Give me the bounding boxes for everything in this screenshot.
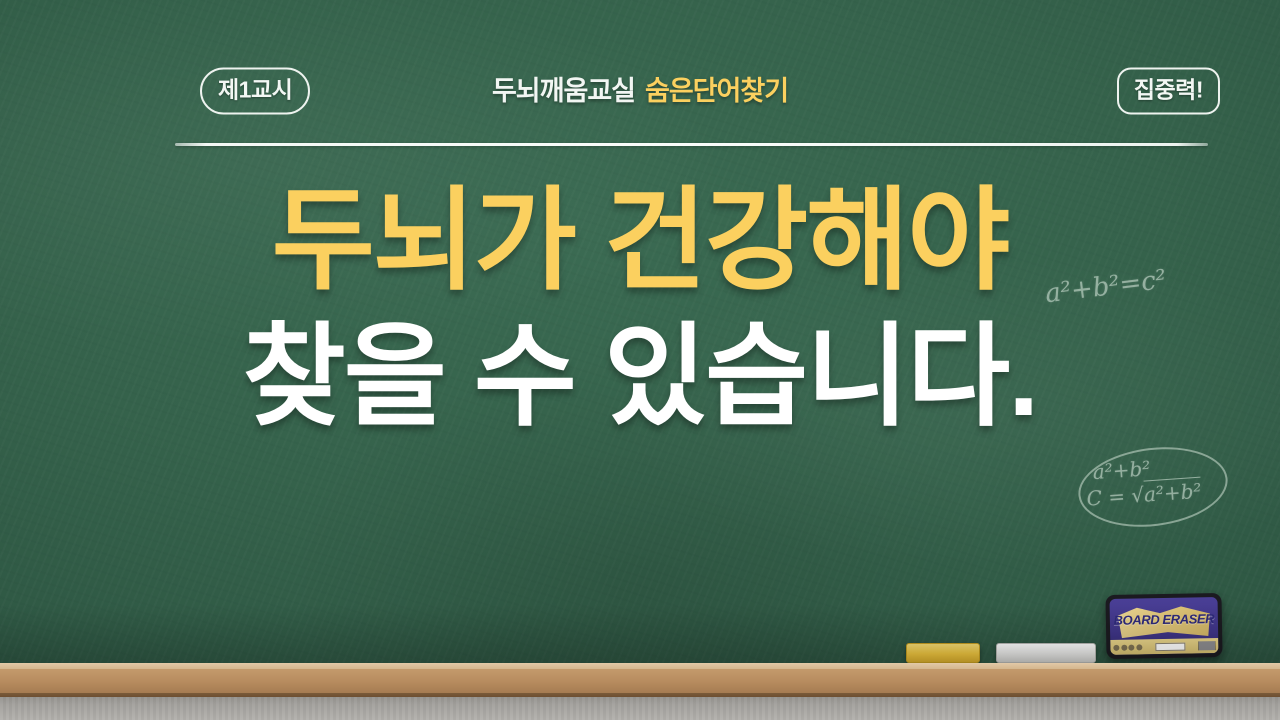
info-icon (1128, 644, 1134, 650)
eraser-footer-strip (1110, 638, 1218, 655)
warning-icon (1121, 644, 1127, 650)
white-chalk-stick[interactable] (996, 643, 1096, 663)
period-badge: 제1교시 (200, 68, 310, 115)
header-title-program: 두뇌깨움교실 (492, 76, 635, 106)
ledge-shadow (0, 693, 1280, 697)
recycle-icon (1113, 644, 1119, 650)
board-eraser-package: BOARD ERASER (1110, 597, 1219, 655)
barcode-icon (1198, 641, 1215, 650)
focus-badge: 집중력! (1117, 68, 1220, 115)
header-title: 두뇌깨움교실숨은단어찾기 (492, 78, 788, 105)
yellow-chalk-stick[interactable] (906, 643, 980, 663)
eraser-icon-row (1113, 644, 1142, 650)
chalk-formula-group: a²+b² C = √a²+b² (1075, 443, 1230, 531)
ledge-body (0, 669, 1280, 693)
chalkboard-slide: 제1교시 두뇌깨움교실숨은단어찾기 집중력! 두뇌가 건강해야 찾을 수 있습니… (0, 0, 1280, 720)
headline-line-1: 두뇌가 건강해야 (272, 176, 1008, 306)
chalk-ledge (0, 663, 1280, 697)
header-bar: 제1교시 두뇌깨움교실숨은단어찾기 집중력! (0, 62, 1280, 120)
headline-block: 두뇌가 건강해야 찾을 수 있습니다. (0, 176, 1280, 442)
header-divider (175, 143, 1208, 146)
eraser-spec-box (1155, 642, 1185, 651)
certification-icon (1136, 644, 1142, 650)
board-eraser[interactable]: BOARD ERASER (1105, 593, 1222, 659)
chalk-ellipse-circle (1074, 439, 1232, 535)
classroom-wall (0, 694, 1280, 720)
chalkboard-surface: 제1교시 두뇌깨움교실숨은단어찾기 집중력! 두뇌가 건강해야 찾을 수 있습니… (0, 0, 1280, 664)
eraser-label: BOARD ERASER (1110, 611, 1218, 628)
headline-line-2: 찾을 수 있습니다. (243, 312, 1038, 442)
header-title-activity: 숨은단어찾기 (645, 76, 788, 106)
